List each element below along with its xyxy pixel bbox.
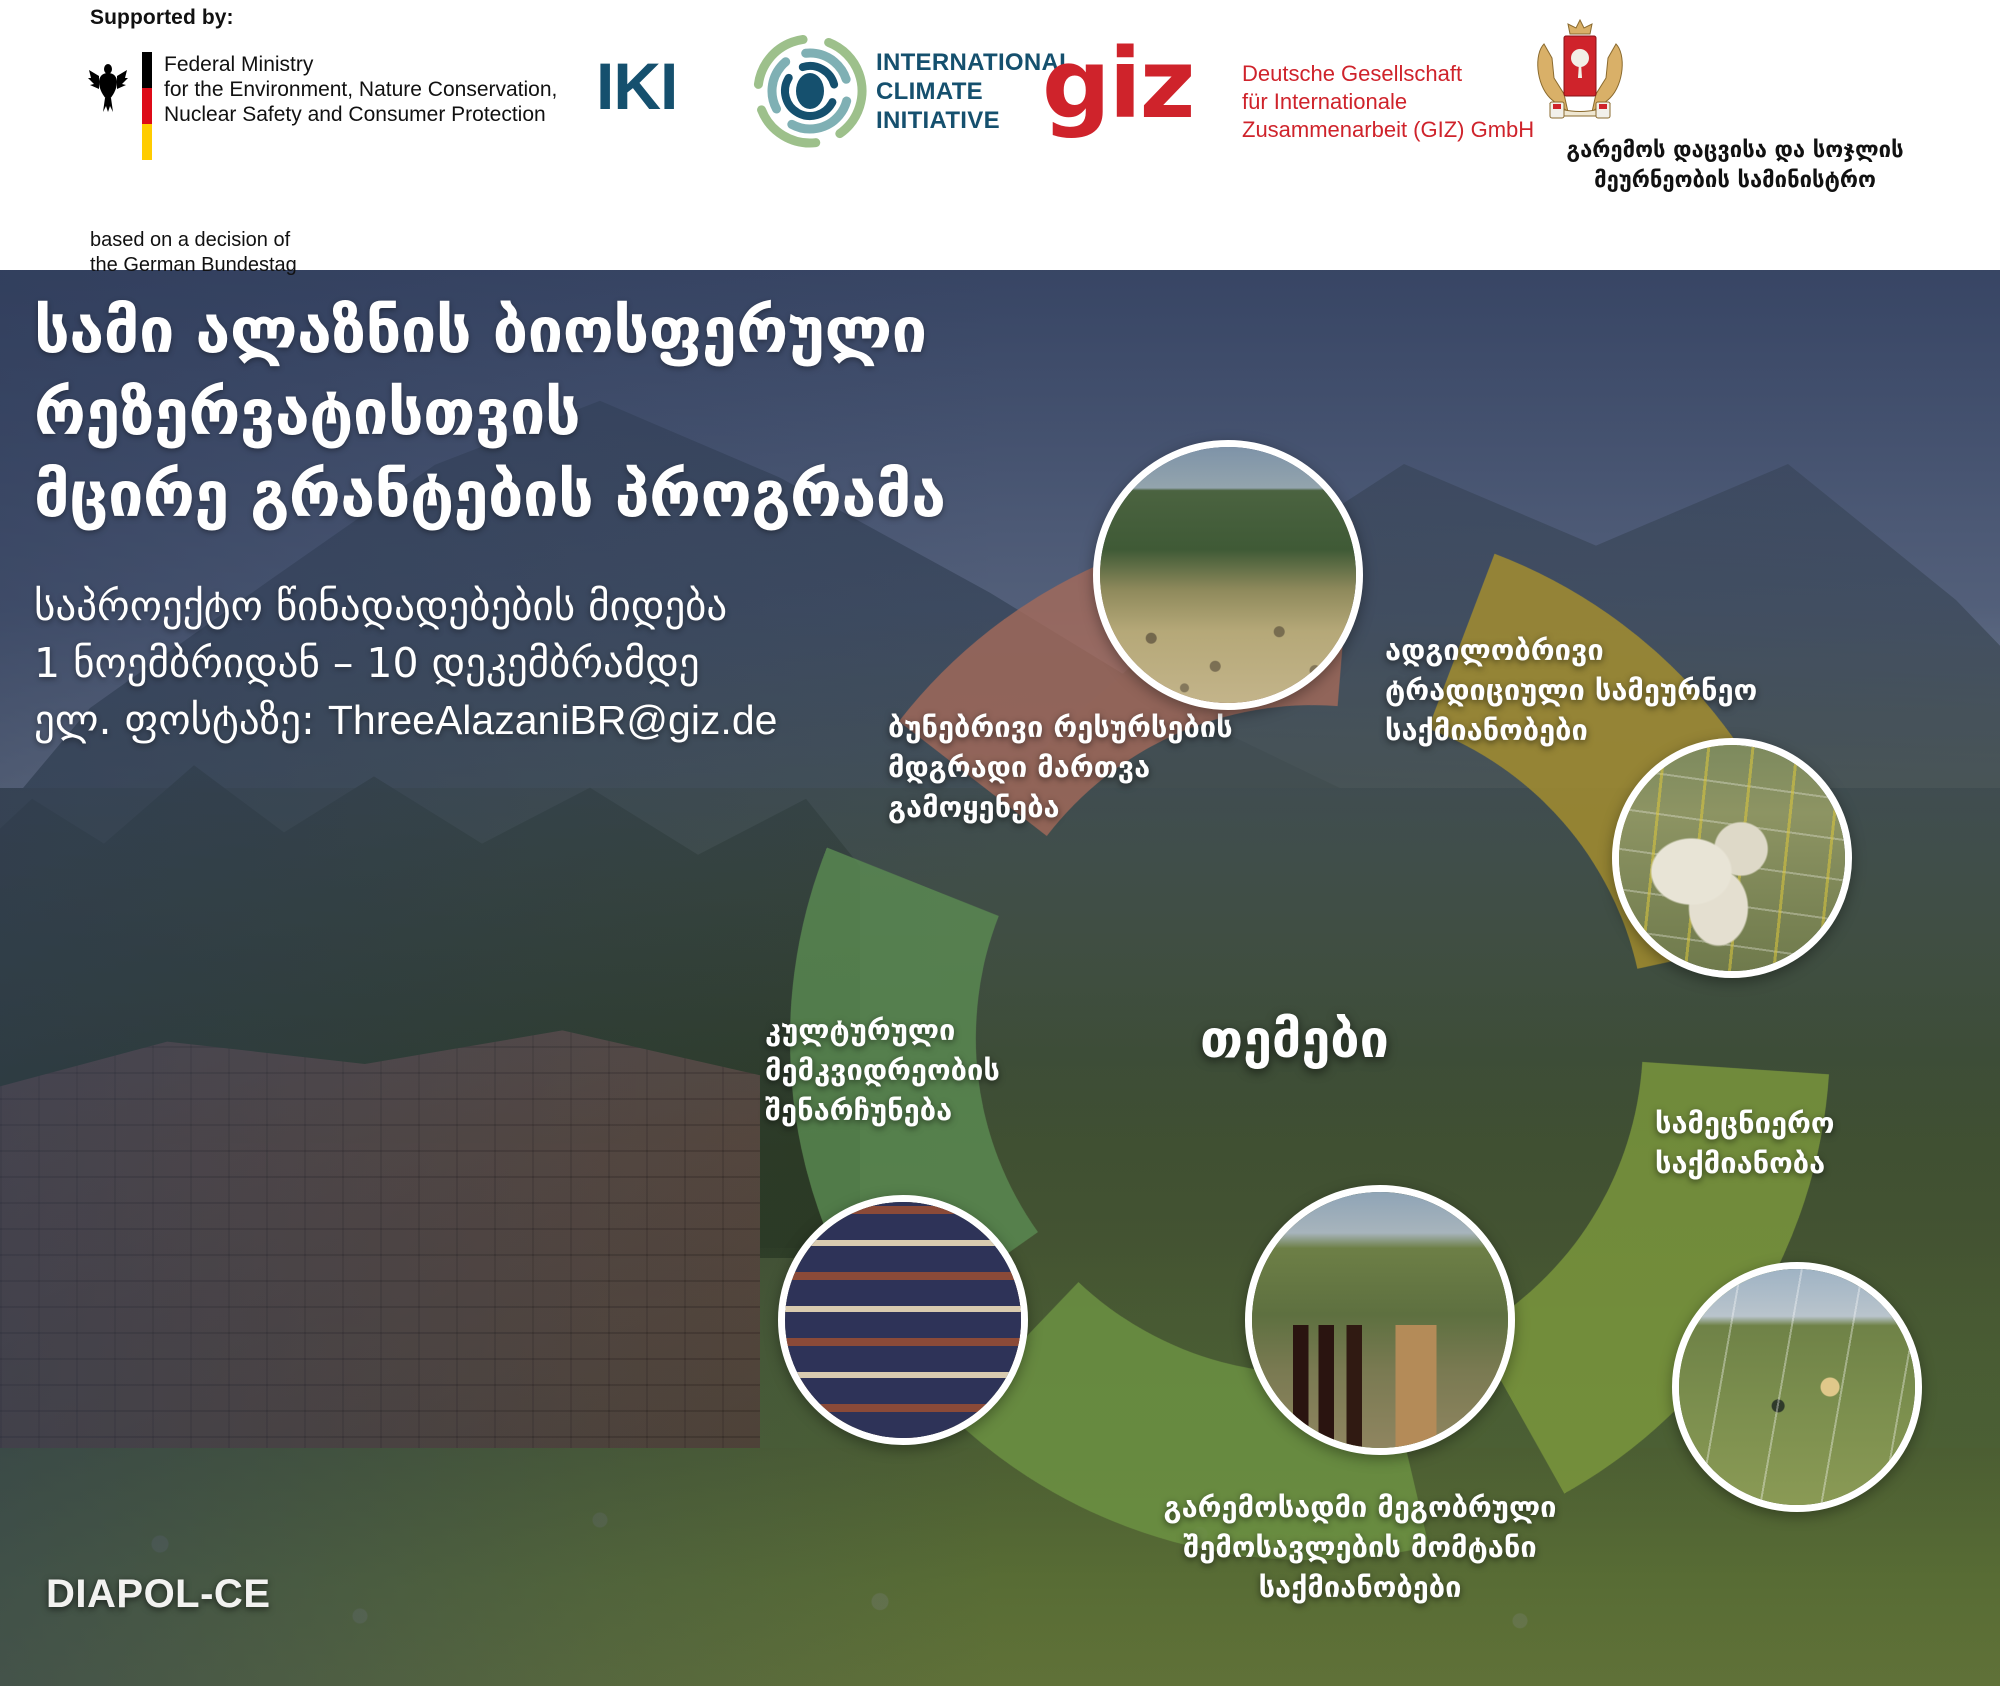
giz-line-1: Deutsche Gesellschaft — [1242, 60, 1534, 88]
concentric-rings-icon — [751, 32, 869, 150]
bubble-wine-bottles-and-clay-jars[interactable] — [1245, 1185, 1515, 1455]
wheel-label-cultural-heritage: კულტურული მემკვიდრეობის შენარჩუნება — [765, 1010, 1095, 1130]
bubble-sheep-behind-fence[interactable] — [1612, 738, 1852, 978]
wheel-label-scientific-activity: სამეცნიერო საქმიანობა — [1655, 1103, 1955, 1183]
bundestag-note-line-1: based on a decision of — [90, 228, 297, 253]
giz-line-3: Zusammenarbeit (GIZ) GmbH — [1242, 116, 1534, 144]
bmuv-line-1: Federal Ministry — [164, 52, 557, 77]
poster-root: Supported by: Federal Ministry for the E… — [0, 0, 2000, 1686]
page-title-line-2: მცირე გრანტების პროგრამა — [34, 454, 1200, 536]
ministry-name: გარემოს დაცვისა და სოჯლის მეურნეობის სამ… — [1520, 136, 1950, 196]
wheel-label-local-traditional-farming: ადგილობრივი ტრადიციული სამეურნეო საქმიან… — [1385, 630, 1855, 750]
georgia-coat-of-arms-icon — [1520, 18, 1640, 126]
bundestag-note-line-2: the German Bundestag — [90, 253, 297, 278]
donor-header: Supported by: Federal Ministry for the E… — [0, 0, 2000, 270]
giz-wordmark: giz — [1042, 28, 1194, 140]
wheel-label-eco-friendly-income: გარემოსადმი მეგობრული შემოსავლების მომტა… — [1100, 1487, 1620, 1607]
iki-logo: IKI INTERNATIONAL CLIMATE INITIATIVE — [596, 40, 996, 150]
giz-line-2: für Internationale — [1242, 88, 1534, 116]
ministry-line-2: მეურნეობის სამინისტრო — [1520, 166, 1950, 196]
german-eagle-icon — [88, 56, 128, 112]
bmuv-logo: Federal Ministry for the Environment, Na… — [88, 52, 508, 162]
ministry-line-1: გარემოს დაცვისა და სოჯლის — [1520, 136, 1950, 166]
iki-wordmark: IKI — [596, 48, 677, 124]
supported-by-label: Supported by: — [90, 6, 234, 30]
diapol-ce-badge: DIAPOL-CE — [46, 1572, 271, 1617]
giz-text: Deutsche Gesellschaft für Internationale… — [1242, 60, 1534, 144]
wheel-label-natural-resources: ბუნებრივი რესურსების მდგრადი მართვა გამო… — [888, 707, 1348, 827]
subtitle-line-1: საპროექტო წინადადებების მიდება — [34, 578, 1200, 635]
page-title-line-1: სამი ალაზნის ბიოსფერული რეზერვატისთვის — [34, 290, 1200, 454]
bubble-woven-carpet-pattern[interactable] — [778, 1195, 1028, 1445]
german-flag-bar — [142, 52, 152, 160]
bubble-field-researchers-quadrat[interactable] — [1672, 1262, 1922, 1512]
bmuv-text: Federal Ministry for the Environment, Na… — [164, 52, 557, 127]
page-title: სამი ალაზნის ბიოსფერული რეზერვატისთვის მ… — [34, 290, 1200, 536]
georgia-ministry-logo: გარემოს დაცვისა და სოჯლის მეურნეობის სამ… — [1520, 18, 1950, 196]
giz-logo: giz Deutsche Gesellschaft für Internatio… — [1042, 34, 1462, 154]
wheel-center-label: თემები — [1200, 1010, 1389, 1070]
bundestag-note: based on a decision of the German Bundes… — [90, 228, 297, 278]
email-label: ელ. ფოსტაზე: — [34, 696, 328, 744]
bmuv-line-3: Nuclear Safety and Consumer Protection — [164, 102, 557, 127]
subtitle-line-2: 1 ნოემბრიდან – 10 დეკემბრამდე — [34, 635, 1200, 692]
bmuv-line-2: for the Environment, Nature Conservation… — [164, 77, 557, 102]
bubble-aerial-village-and-hay-bales[interactable] — [1093, 440, 1363, 710]
title-block: სამი ალაზნის ბიოსფერული რეზერვატისთვის მ… — [0, 268, 1200, 749]
contact-email[interactable]: ThreeAlazaniBR@giz.de — [328, 697, 778, 743]
